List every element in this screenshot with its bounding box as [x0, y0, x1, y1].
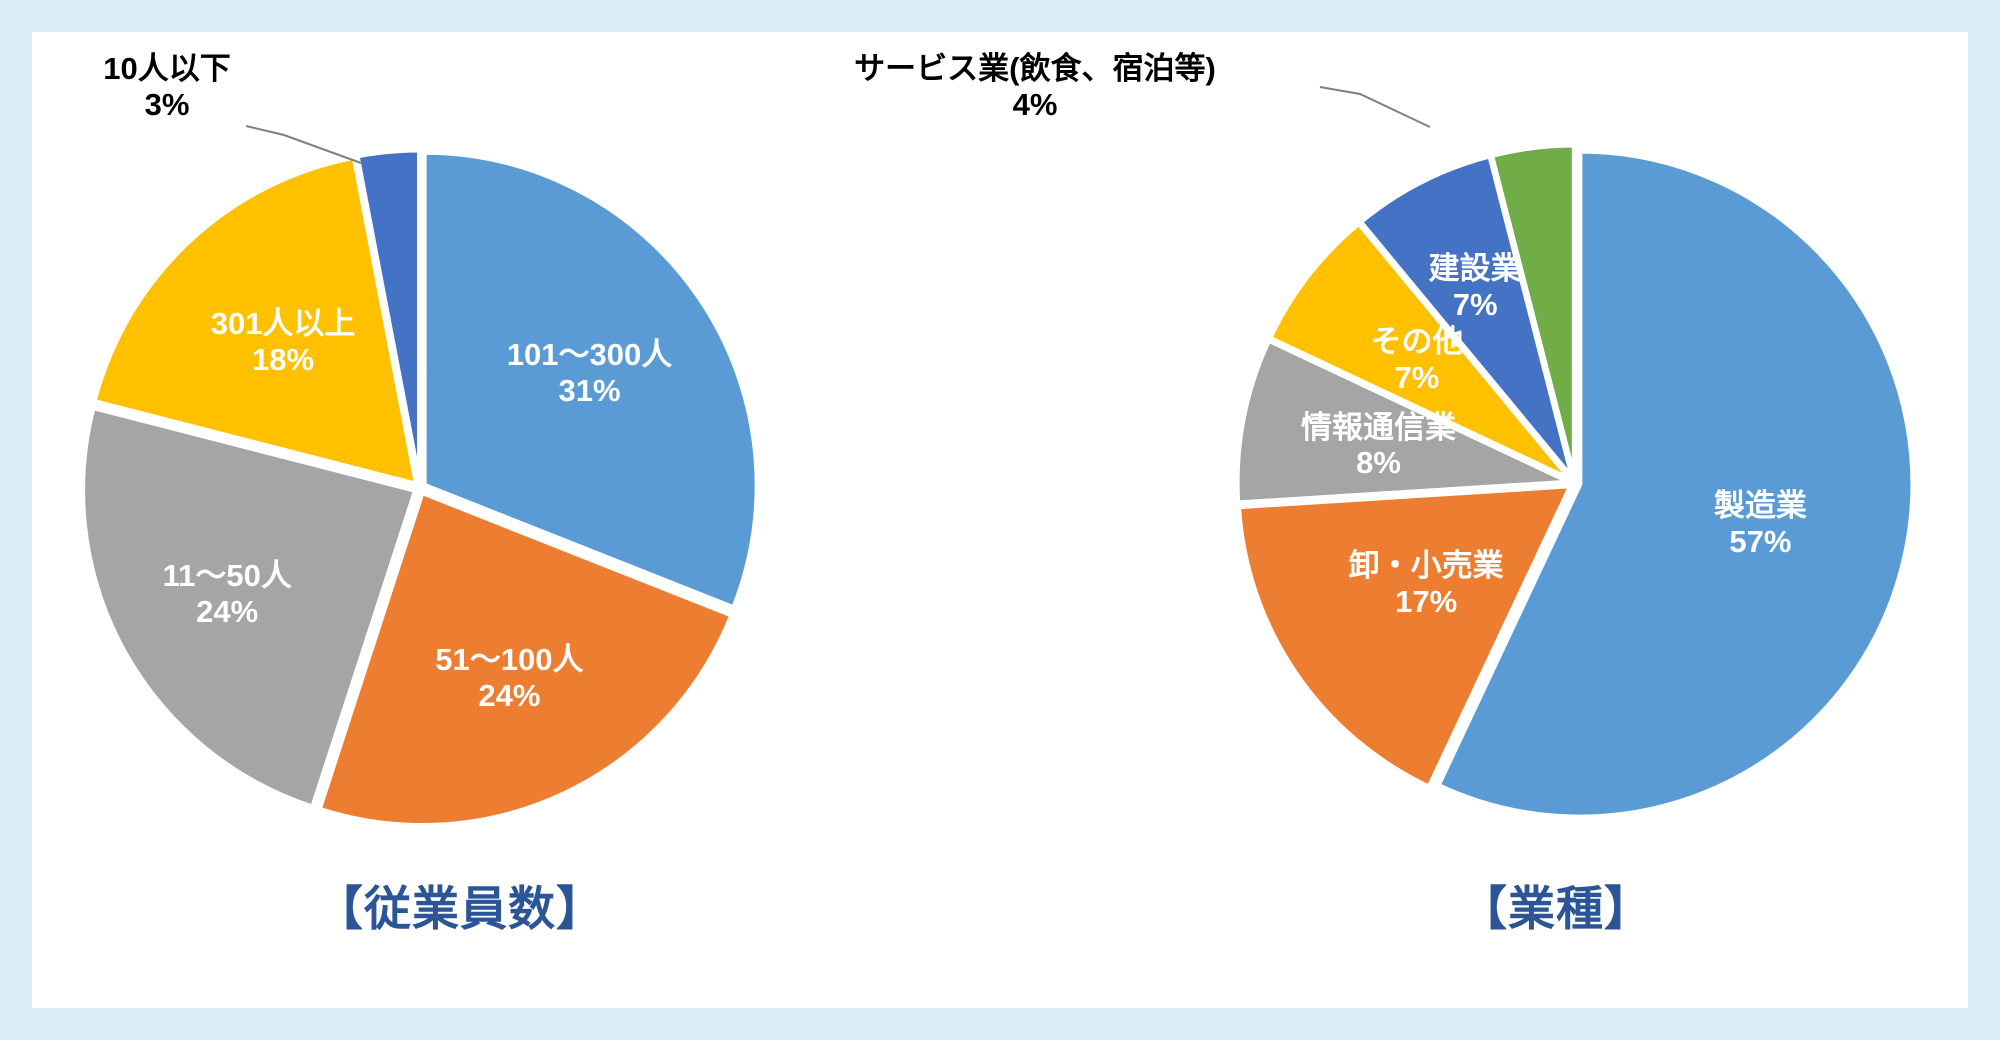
- white-content-panel: 101〜300人 31% 51〜100人 24% 11〜50人 24% 301人…: [32, 32, 1968, 1008]
- page-canvas: 101〜300人 31% 51〜100人 24% 11〜50人 24% 301人…: [0, 0, 2000, 1040]
- pie-callout-label-service-name: サービス業(飲食、宿泊等): [854, 51, 1216, 86]
- pie-chart-employees: 101〜300人 31% 51〜100人 24% 11〜50人 24% 301人…: [32, 32, 1000, 1008]
- pie-callout-leader-line: [1320, 87, 1430, 127]
- pie-callout-label-service: サービス業(飲食、宿泊等) 4%: [854, 51, 1216, 123]
- chart-caption-employees: 【従業員数】: [0, 870, 944, 939]
- pie-chart-industry-svg: [1000, 32, 1968, 1008]
- pie-chart-industry: 製造業 57% 卸・小売業 17% 情報通信業 8% その他 7% 建設業 7%…: [1000, 32, 1968, 1008]
- chart-caption-industry: 【業種】: [1072, 870, 2000, 939]
- pie-callout-label-service-value: 4%: [854, 87, 1216, 123]
- pie-callout-leader-line: [246, 126, 361, 163]
- pie-callout-label-10-or-less-value: 3%: [103, 87, 230, 123]
- pie-callout-label-10-or-less-name: 10人以下: [103, 51, 230, 86]
- pie-chart-employees-svg: [32, 32, 1000, 1008]
- pie-callout-label-10-or-less: 10人以下 3%: [103, 51, 230, 123]
